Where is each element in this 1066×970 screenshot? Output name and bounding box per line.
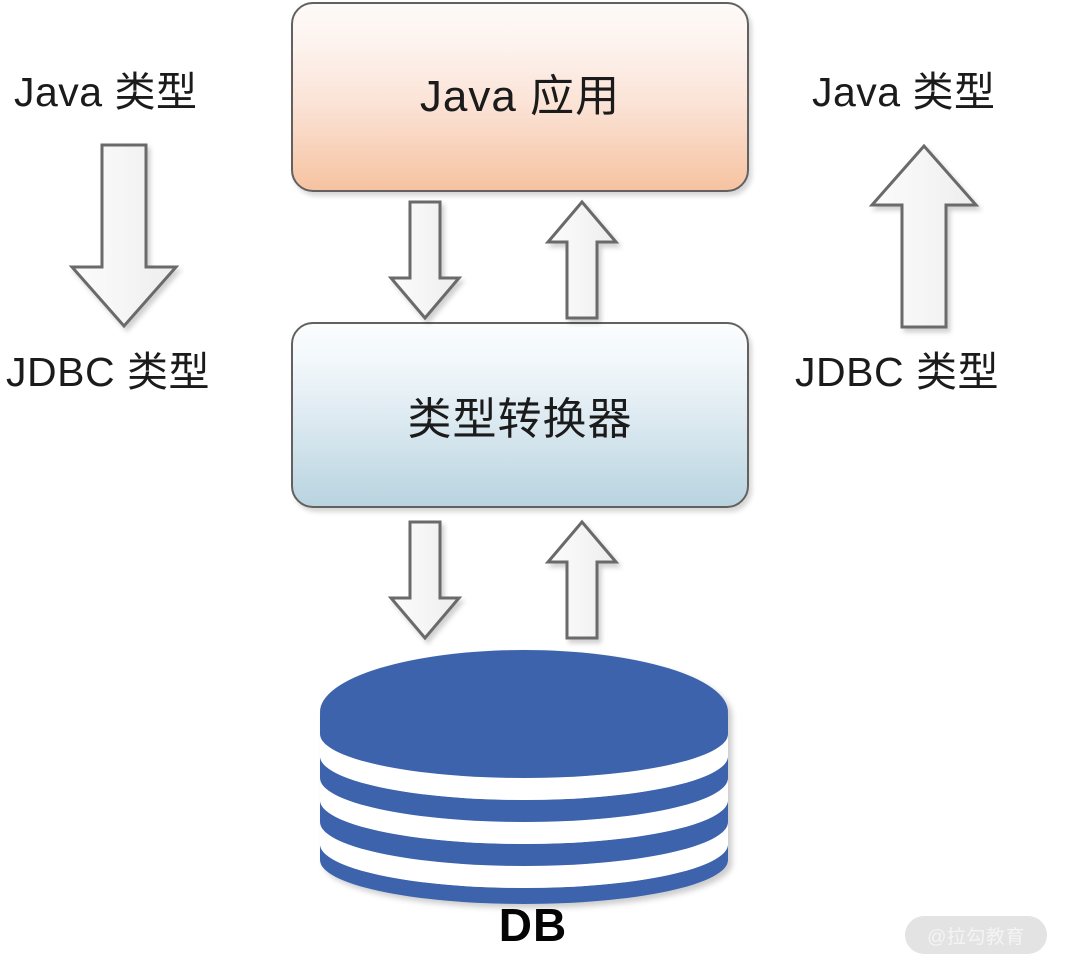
node-type-converter-label: 类型转换器 <box>408 383 633 447</box>
arrow-up-icon-right <box>868 143 980 329</box>
arrow-down-icon-app-to-converter <box>388 200 462 320</box>
label-left-java-type: Java 类型 <box>14 70 198 115</box>
arrow-up-icon-converter-to-app <box>545 200 619 320</box>
node-database[interactable] <box>318 648 730 898</box>
node-database-label: DB <box>0 898 1066 952</box>
db-layer-1 <box>320 650 728 778</box>
arrow-up-icon-db-to-converter <box>545 520 619 640</box>
arrow-down-icon-left <box>68 143 180 329</box>
diagram-canvas: Java 类型 JDBC 类型 Java 类型 JDBC 类型 Java 应用 … <box>0 0 1066 970</box>
node-java-app-label: Java 应用 <box>420 60 620 124</box>
node-type-converter[interactable]: 类型转换器 <box>291 322 749 508</box>
label-right-jdbc-type: JDBC 类型 <box>795 350 999 395</box>
label-right-java-type: Java 类型 <box>812 70 996 115</box>
arrow-down-icon-converter-to-db <box>388 520 462 640</box>
node-java-app[interactable]: Java 应用 <box>291 2 749 192</box>
watermark-badge: @拉勾教育 <box>905 916 1047 954</box>
label-left-jdbc-type: JDBC 类型 <box>6 350 210 395</box>
